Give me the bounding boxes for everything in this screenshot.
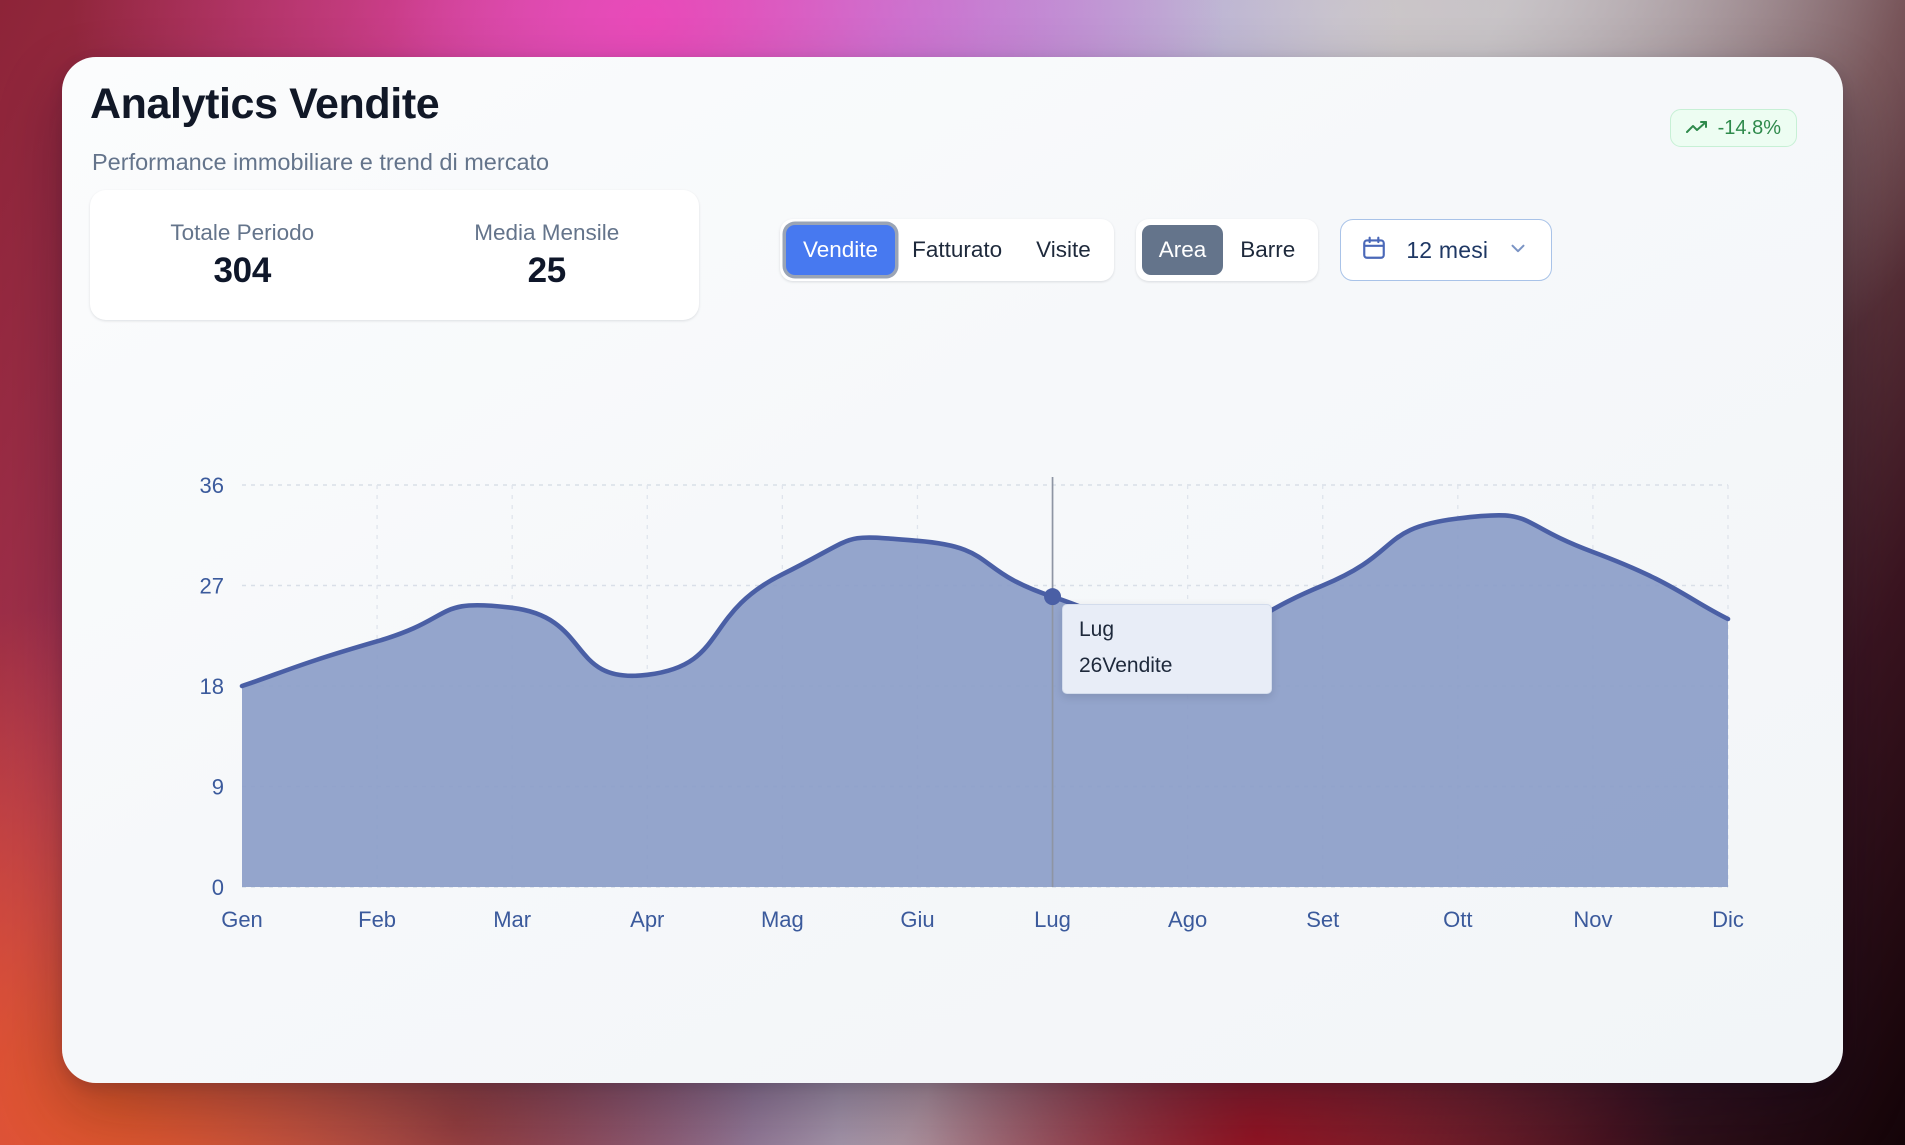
stat-media-mensile: Media Mensile 25 <box>395 220 700 291</box>
svg-text:27: 27 <box>200 574 224 599</box>
stat-label: Media Mensile <box>395 220 700 246</box>
date-range-select[interactable]: 12 mesi <box>1340 219 1552 281</box>
stat-label: Totale Periodo <box>90 220 395 246</box>
svg-text:0: 0 <box>212 875 224 900</box>
date-range-value: 12 mesi <box>1406 237 1488 264</box>
svg-text:Feb: Feb <box>358 907 396 932</box>
metric-tab-group: Vendite Fatturato Visite <box>780 219 1114 281</box>
analytics-card: Analytics Vendite Performance immobiliar… <box>62 57 1843 1083</box>
svg-text:Lug: Lug <box>1034 907 1071 932</box>
stat-value: 304 <box>90 251 395 291</box>
trend-badge: -14.8% <box>1670 109 1797 147</box>
svg-text:18: 18 <box>200 674 224 699</box>
svg-text:Set: Set <box>1306 907 1339 932</box>
svg-text:Nov: Nov <box>1573 907 1612 932</box>
chart-area: 09182736GenFebMarAprMagGiuLugAgoSetOttNo… <box>62 447 1843 997</box>
tab-fatturato[interactable]: Fatturato <box>895 225 1019 275</box>
chart-type-tab-group: Area Barre <box>1136 219 1319 281</box>
tooltip-label: Lug <box>1079 618 1255 642</box>
tooltip-value: 26Vendite <box>1079 654 1255 678</box>
svg-text:Gen: Gen <box>221 907 263 932</box>
svg-text:Ago: Ago <box>1168 907 1207 932</box>
stat-value: 25 <box>395 251 700 291</box>
tab-barre[interactable]: Barre <box>1223 225 1312 275</box>
svg-text:36: 36 <box>200 473 224 498</box>
tab-vendite[interactable]: Vendite <box>786 225 895 275</box>
svg-text:Giu: Giu <box>900 907 934 932</box>
trending-up-icon <box>1686 120 1708 136</box>
svg-text:9: 9 <box>212 775 224 800</box>
calendar-icon <box>1361 235 1387 266</box>
svg-text:Mag: Mag <box>761 907 804 932</box>
tab-area[interactable]: Area <box>1142 225 1224 275</box>
stat-totale-periodo: Totale Periodo 304 <box>90 220 395 291</box>
page-title: Analytics Vendite <box>90 80 439 129</box>
chart-controls: Vendite Fatturato Visite Area Barre 12 m… <box>780 219 1552 281</box>
page-subtitle: Performance immobiliare e trend di merca… <box>92 149 549 176</box>
chevron-down-icon <box>1507 237 1529 264</box>
chart-tooltip: Lug 26Vendite <box>1062 604 1272 694</box>
stats-card: Totale Periodo 304 Media Mensile 25 <box>90 190 699 320</box>
svg-text:Ott: Ott <box>1443 907 1472 932</box>
svg-text:Apr: Apr <box>630 907 664 932</box>
trend-badge-value: -14.8% <box>1718 117 1781 140</box>
svg-text:Mar: Mar <box>493 907 531 932</box>
svg-text:Dic: Dic <box>1712 907 1744 932</box>
tab-visite[interactable]: Visite <box>1019 225 1108 275</box>
sales-area-chart[interactable]: 09182736GenFebMarAprMagGiuLugAgoSetOttNo… <box>62 447 1843 997</box>
